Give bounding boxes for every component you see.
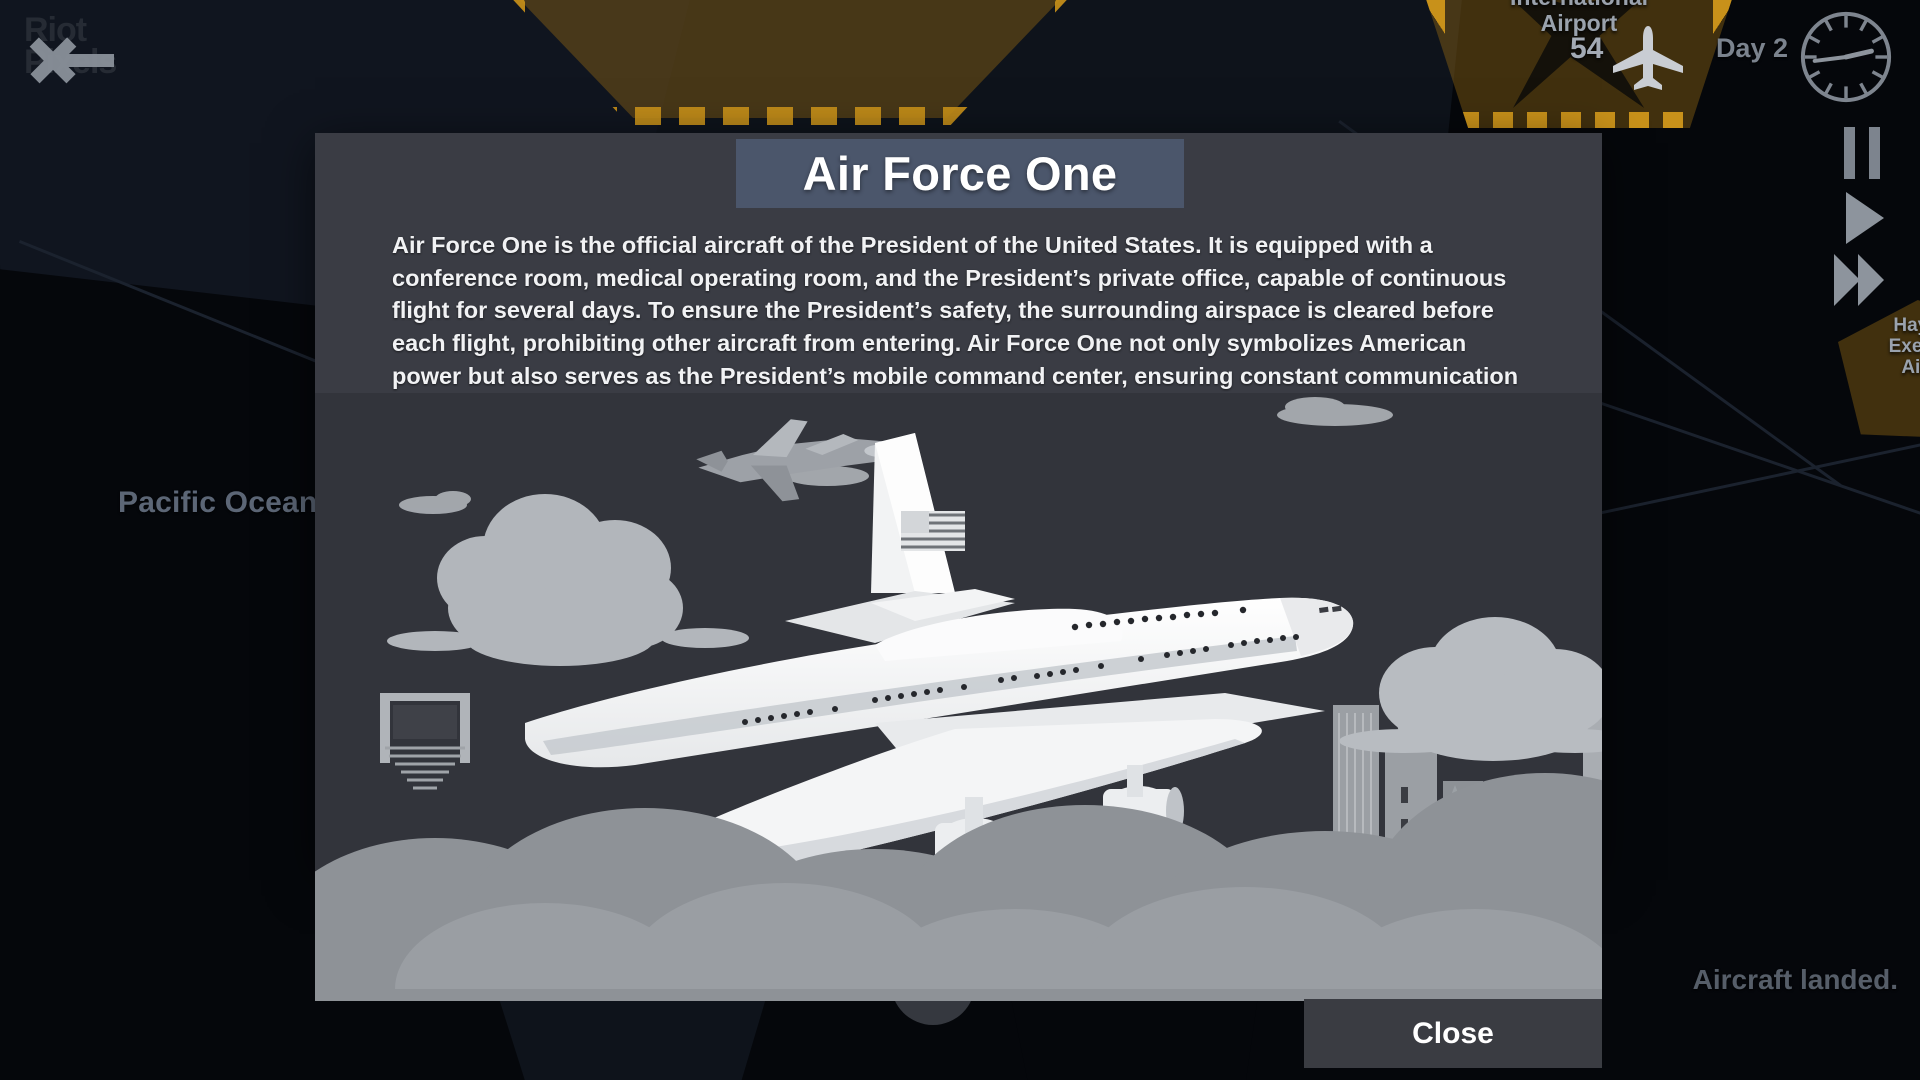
modal-title: Air Force One <box>736 139 1184 208</box>
zone-border <box>503 0 1077 125</box>
status-message: Aircraft landed. <box>1693 964 1898 996</box>
back-arrow-icon[interactable] <box>22 18 118 108</box>
zone-san-francisco-downtown[interactable]: San Francisco Downtown <box>510 0 1070 118</box>
play-icon[interactable] <box>1836 190 1888 246</box>
air-force-one-illustration <box>315 393 1602 1001</box>
illustration-svg <box>315 393 1602 1001</box>
close-button[interactable]: Close <box>1304 999 1602 1068</box>
zone-label-hayward: Hayward Executive Airport <box>1838 316 1920 379</box>
airplane-icon[interactable] <box>1608 24 1688 98</box>
clock-icon <box>1797 8 1895 106</box>
fast-forward-icon[interactable] <box>1832 252 1888 308</box>
aircraft-count-badge: 54 <box>1570 32 1603 66</box>
day-counter: Day 2 <box>1716 33 1788 64</box>
pause-icon[interactable] <box>1836 125 1888 181</box>
info-modal: Air Force One Air Force One is the offic… <box>315 133 1602 870</box>
modal-header: Air Force One Air Force One is the offic… <box>315 133 1602 393</box>
zone-hayward-executive-airport[interactable]: Hayward Executive Airport <box>1838 300 1920 440</box>
